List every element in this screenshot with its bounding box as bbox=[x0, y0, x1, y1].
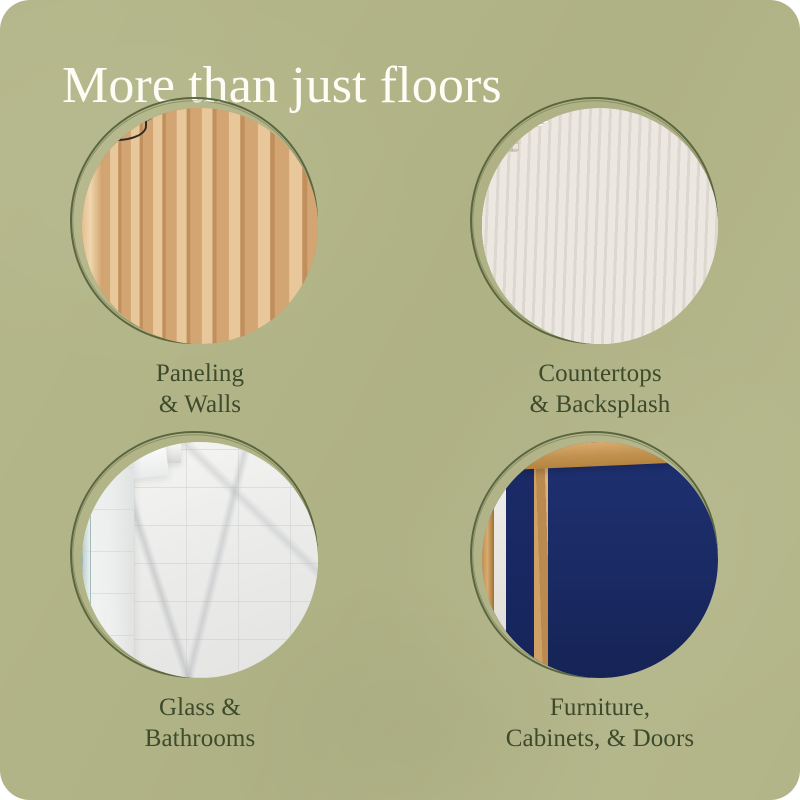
category-caption: Glass & Bathrooms bbox=[0, 692, 400, 754]
media-wrapper bbox=[82, 108, 318, 344]
category-caption: Paneling & Walls bbox=[0, 358, 400, 420]
caption-line-2: & Backsplash bbox=[400, 389, 800, 420]
brick-backsplash-kitchen-photo bbox=[482, 108, 718, 344]
category-card-furniture-cabinets-and-doors[interactable]: Furniture, Cabinets, & Doors bbox=[400, 438, 800, 783]
media-wrapper bbox=[482, 108, 718, 344]
caption-line-1: Furniture, bbox=[400, 692, 800, 723]
category-caption: Countertops & Backsplash bbox=[400, 358, 800, 420]
media-wrapper bbox=[82, 442, 318, 678]
category-grid: Paneling & Walls bbox=[0, 104, 800, 800]
caption-line-1: Glass & bbox=[0, 692, 400, 723]
category-caption: Furniture, Cabinets, & Doors bbox=[400, 692, 800, 754]
navy-island-kitchen-photo bbox=[482, 442, 718, 678]
caption-line-2: Cabinets, & Doors bbox=[400, 723, 800, 754]
wood-slat-divider-photo bbox=[82, 108, 318, 344]
caption-line-2: Bathrooms bbox=[0, 723, 400, 754]
media-wrapper bbox=[482, 442, 718, 678]
caption-line-1: Countertops bbox=[400, 358, 800, 389]
category-card-glass-and-bathrooms[interactable]: Glass & Bathrooms bbox=[0, 438, 400, 783]
category-card-paneling-and-walls[interactable]: Paneling & Walls bbox=[0, 104, 400, 449]
promo-card: More than just floors bbox=[0, 0, 800, 800]
marble-bathroom-photo bbox=[82, 442, 318, 678]
category-card-countertops-and-backsplash[interactable]: Countertops & Backsplash bbox=[400, 104, 800, 449]
caption-line-2: & Walls bbox=[0, 389, 400, 420]
caption-line-1: Paneling bbox=[0, 358, 400, 389]
